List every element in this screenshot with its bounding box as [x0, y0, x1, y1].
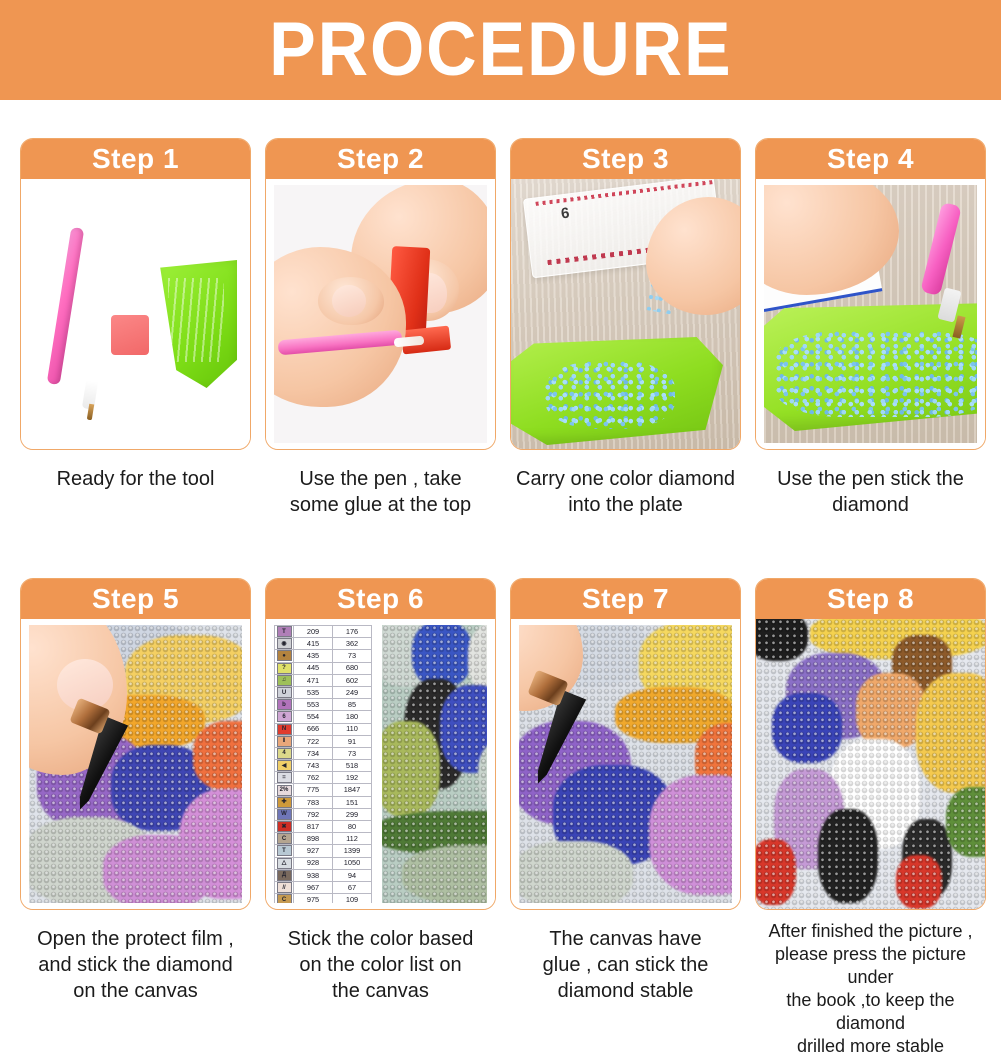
- step-cell-8: Step 8: [748, 578, 993, 1058]
- step-cell-3: Step 3 6 Carry one color diamond into th…: [503, 138, 748, 518]
- color-swatch-cell: N: [275, 723, 294, 735]
- color-list-row: W792299: [275, 808, 372, 820]
- color-symbol-swatch: ✖: [277, 821, 292, 832]
- color-list-photo: T209176◉415362●43573?445680♫471602U53524…: [274, 625, 487, 903]
- step-cell-2: Step 2 Use the pen , take some glue at t…: [258, 138, 503, 518]
- color-list-row: //96767: [275, 881, 372, 893]
- step-header-7: Step 7: [511, 579, 740, 619]
- color-count-cell: 73: [333, 650, 372, 662]
- color-list-row: b55385: [275, 699, 372, 711]
- step-cell-4: Step 4 Use the pen stick the diamond: [748, 138, 993, 518]
- step-header-5: Step 5: [21, 579, 250, 619]
- color-count-cell: 1399: [333, 845, 372, 857]
- step-cell-5: Step 5: [13, 578, 258, 1058]
- color-code-cell: 209: [294, 626, 333, 638]
- color-count-cell: 110: [333, 723, 372, 735]
- color-count-cell: 85: [333, 699, 372, 711]
- color-code-cell: 783: [294, 796, 333, 808]
- color-list-row: ●43573: [275, 650, 372, 662]
- step-caption-1: Ready for the tool: [13, 466, 258, 492]
- pour-diamonds-photo: 6: [511, 179, 740, 449]
- color-swatch-cell: //: [275, 881, 294, 893]
- steps-row-1: Step 1 Ready for the tool Step 2: [0, 138, 1001, 518]
- color-count-cell: 299: [333, 808, 372, 820]
- diamond-grid-icon: [756, 619, 985, 909]
- color-code-cell: 734: [294, 747, 333, 759]
- color-code-cell: 775: [294, 784, 333, 796]
- finished-picture-photo: [756, 619, 985, 909]
- color-swatch-cell: 6: [275, 711, 294, 723]
- pick-diamond-photo: [764, 185, 977, 443]
- color-list-row: ◀743518: [275, 760, 372, 772]
- step-image-1: [21, 179, 250, 449]
- step-header-2: Step 2: [266, 139, 495, 179]
- page-title: PROCEDURE: [269, 12, 732, 88]
- color-list-row: △9281050: [275, 857, 372, 869]
- color-count-cell: 362: [333, 638, 372, 650]
- color-list-row: ?445680: [275, 662, 372, 674]
- stick-diamond-photo: [29, 625, 242, 903]
- color-swatch-cell: =: [275, 772, 294, 784]
- diamond-grid-icon: [382, 625, 487, 903]
- color-symbol-swatch: 2%: [277, 785, 292, 796]
- color-swatch-cell: Д: [275, 869, 294, 881]
- color-list-row: N666110: [275, 723, 372, 735]
- color-count-cell: 80: [333, 821, 372, 833]
- color-swatch-cell: ●: [275, 650, 294, 662]
- color-symbol-swatch: 6: [277, 711, 292, 722]
- color-swatch-cell: ◉: [275, 638, 294, 650]
- color-symbol-swatch: ◀: [277, 760, 292, 771]
- step-card-2[interactable]: Step 2: [265, 138, 496, 450]
- pink-pen-icon: [920, 202, 962, 296]
- step-header-3: Step 3: [511, 139, 740, 179]
- color-count-cell: 67: [333, 881, 372, 893]
- color-swatch-cell: ✖: [275, 821, 294, 833]
- color-count-cell: 73: [333, 747, 372, 759]
- color-list-row: C898112: [275, 833, 372, 845]
- step-card-8[interactable]: Step 8: [755, 578, 986, 910]
- step-header-4: Step 4: [756, 139, 985, 179]
- color-symbol-swatch: T: [277, 845, 292, 856]
- glue-on-pen-photo: [274, 185, 487, 443]
- color-code-cell: 554: [294, 711, 333, 723]
- step-image-3: 6: [511, 179, 740, 449]
- step-card-7[interactable]: Step 7: [510, 578, 741, 910]
- color-swatch-cell: C: [275, 833, 294, 845]
- color-swatch-cell: W: [275, 808, 294, 820]
- step-caption-6: Stick the color based on the color list …: [258, 926, 503, 1004]
- color-code-cell: 927: [294, 845, 333, 857]
- color-symbol-swatch: C: [277, 894, 292, 903]
- color-swatch-cell: U: [275, 686, 294, 698]
- color-code-cell: 666: [294, 723, 333, 735]
- color-list-row: =762192: [275, 772, 372, 784]
- color-count-cell: 176: [333, 626, 372, 638]
- color-code-cell: 762: [294, 772, 333, 784]
- step-cell-1: Step 1 Ready for the tool: [13, 138, 258, 518]
- step-caption-7: The canvas have glue , can stick the dia…: [503, 926, 748, 1004]
- step-image-5: [21, 619, 250, 909]
- color-code-cell: 898: [294, 833, 333, 845]
- color-code-cell: 792: [294, 808, 333, 820]
- color-swatch-cell: ?: [275, 662, 294, 674]
- fingernail-2-icon: [332, 285, 366, 317]
- tool-photo: [29, 185, 242, 443]
- color-count-cell: 112: [333, 833, 372, 845]
- glue-square-icon: [111, 315, 149, 355]
- color-code-cell: 967: [294, 881, 333, 893]
- color-list-row: ✖81780: [275, 821, 372, 833]
- color-count-cell: 249: [333, 686, 372, 698]
- color-symbol-swatch: ‖: [277, 736, 292, 747]
- green-tray-icon: [157, 260, 237, 388]
- color-swatch-cell: ♫: [275, 674, 294, 686]
- step-header-6: Step 6: [266, 579, 495, 619]
- color-symbol-swatch: C: [277, 833, 292, 844]
- color-list-row: T209176: [275, 626, 372, 638]
- color-count-cell: 91: [333, 735, 372, 747]
- color-list-row: ✚783151: [275, 796, 372, 808]
- color-list-row: ◉415362: [275, 638, 372, 650]
- step-card-1[interactable]: Step 1: [20, 138, 251, 450]
- color-code-cell: 722: [294, 735, 333, 747]
- color-count-cell: 192: [333, 772, 372, 784]
- step-card-3[interactable]: Step 3 6: [510, 138, 741, 450]
- color-swatch-cell: ◀: [275, 760, 294, 772]
- color-code-cell: 445: [294, 662, 333, 674]
- color-code-cell: 975: [294, 894, 333, 903]
- step-image-6: T209176◉415362●43573?445680♫471602U53524…: [266, 619, 495, 909]
- step-caption-8: After finished the picture , please pres…: [748, 920, 993, 1058]
- step-card-6[interactable]: Step 6 T209176◉415362●43573?445680♫47160…: [265, 578, 496, 910]
- color-code-cell: 928: [294, 857, 333, 869]
- color-code-cell: 743: [294, 760, 333, 772]
- color-symbol-swatch: //: [277, 882, 292, 893]
- color-code-cell: 938: [294, 869, 333, 881]
- sticky-canvas-photo: [519, 625, 732, 903]
- color-code-cell: 471: [294, 674, 333, 686]
- color-code-cell: 817: [294, 821, 333, 833]
- color-count-cell: 180: [333, 711, 372, 723]
- page-banner: PROCEDURE: [0, 0, 1001, 100]
- step-caption-5: Open the protect film , and stick the di…: [13, 926, 258, 1004]
- step-card-5[interactable]: Step 5: [20, 578, 251, 910]
- step-image-7: [511, 619, 740, 909]
- step-header-8: Step 8: [756, 579, 985, 619]
- color-symbol-swatch: T: [277, 626, 292, 637]
- color-code-cell: 415: [294, 638, 333, 650]
- color-symbol-swatch: △: [277, 858, 292, 869]
- color-swatch-cell: ‖: [275, 735, 294, 747]
- step-image-2: [266, 179, 495, 449]
- color-symbol-swatch: ♫: [277, 675, 292, 686]
- color-symbol-swatch: ◉: [277, 638, 292, 649]
- blue-diamonds-icon: [776, 331, 977, 417]
- color-symbol-swatch: W: [277, 809, 292, 820]
- color-symbol-swatch: ●: [277, 650, 292, 661]
- step-image-8: [756, 619, 985, 909]
- color-swatch-cell: 4: [275, 747, 294, 759]
- table-canvas-gap: [372, 625, 382, 903]
- color-code-cell: 535: [294, 686, 333, 698]
- color-count-cell: 1847: [333, 784, 372, 796]
- color-count-cell: 680: [333, 662, 372, 674]
- color-swatch-cell: T: [275, 626, 294, 638]
- step-cell-7: Step 7 The canvas have glue: [503, 578, 748, 1058]
- color-code-cell: 553: [294, 699, 333, 711]
- color-code-cell: 435: [294, 650, 333, 662]
- color-count-cell: 602: [333, 674, 372, 686]
- blue-diamonds-icon: [545, 361, 675, 429]
- color-list-row: 473473: [275, 747, 372, 759]
- step-caption-2: Use the pen , take some glue at the top: [258, 466, 503, 518]
- color-list-row: 2%7751847: [275, 784, 372, 796]
- color-count-cell: 94: [333, 869, 372, 881]
- color-list-row: U535249: [275, 686, 372, 698]
- color-list-row: T9271399: [275, 845, 372, 857]
- canvas-preview: [382, 625, 487, 903]
- color-list-row: ‖72291: [275, 735, 372, 747]
- step-image-4: [756, 179, 985, 449]
- color-symbol-swatch: U: [277, 687, 292, 698]
- color-count-cell: 109: [333, 894, 372, 903]
- color-swatch-cell: T: [275, 845, 294, 857]
- step-card-4[interactable]: Step 4: [755, 138, 986, 450]
- step-cell-6: Step 6 T209176◉415362●43573?445680♫47160…: [258, 578, 503, 1058]
- color-list-row: Д93894: [275, 869, 372, 881]
- color-list-table: T209176◉415362●43573?445680♫471602U53524…: [274, 625, 372, 903]
- color-symbol-swatch: 4: [277, 748, 292, 759]
- color-symbol-swatch: ✚: [277, 797, 292, 808]
- color-swatch-cell: ✚: [275, 796, 294, 808]
- bag-label: 6: [560, 204, 571, 222]
- color-count-cell: 1050: [333, 857, 372, 869]
- pink-pen-icon: [47, 227, 85, 385]
- step-caption-3: Carry one color diamond into the plate: [503, 466, 748, 518]
- color-swatch-cell: △: [275, 857, 294, 869]
- step-caption-4: Use the pen stick the diamond: [748, 466, 993, 518]
- steps-row-2: Step 5: [0, 578, 1001, 1058]
- color-symbol-swatch: Д: [277, 870, 292, 881]
- color-list-body: T209176◉415362●43573?445680♫471602U53524…: [275, 626, 372, 904]
- color-list-row: 6554180: [275, 711, 372, 723]
- pen-tip-icon: [87, 404, 94, 421]
- color-list-row: ♫471602: [275, 674, 372, 686]
- color-list-row: C975109: [275, 894, 372, 903]
- color-symbol-swatch: N: [277, 724, 292, 735]
- step-header-1: Step 1: [21, 139, 250, 179]
- color-swatch-cell: 2%: [275, 784, 294, 796]
- color-symbol-swatch: ?: [277, 663, 292, 674]
- color-swatch-cell: b: [275, 699, 294, 711]
- color-swatch-cell: C: [275, 894, 294, 903]
- color-symbol-swatch: =: [277, 772, 292, 783]
- color-symbol-swatch: b: [277, 699, 292, 710]
- color-count-cell: 151: [333, 796, 372, 808]
- color-count-cell: 518: [333, 760, 372, 772]
